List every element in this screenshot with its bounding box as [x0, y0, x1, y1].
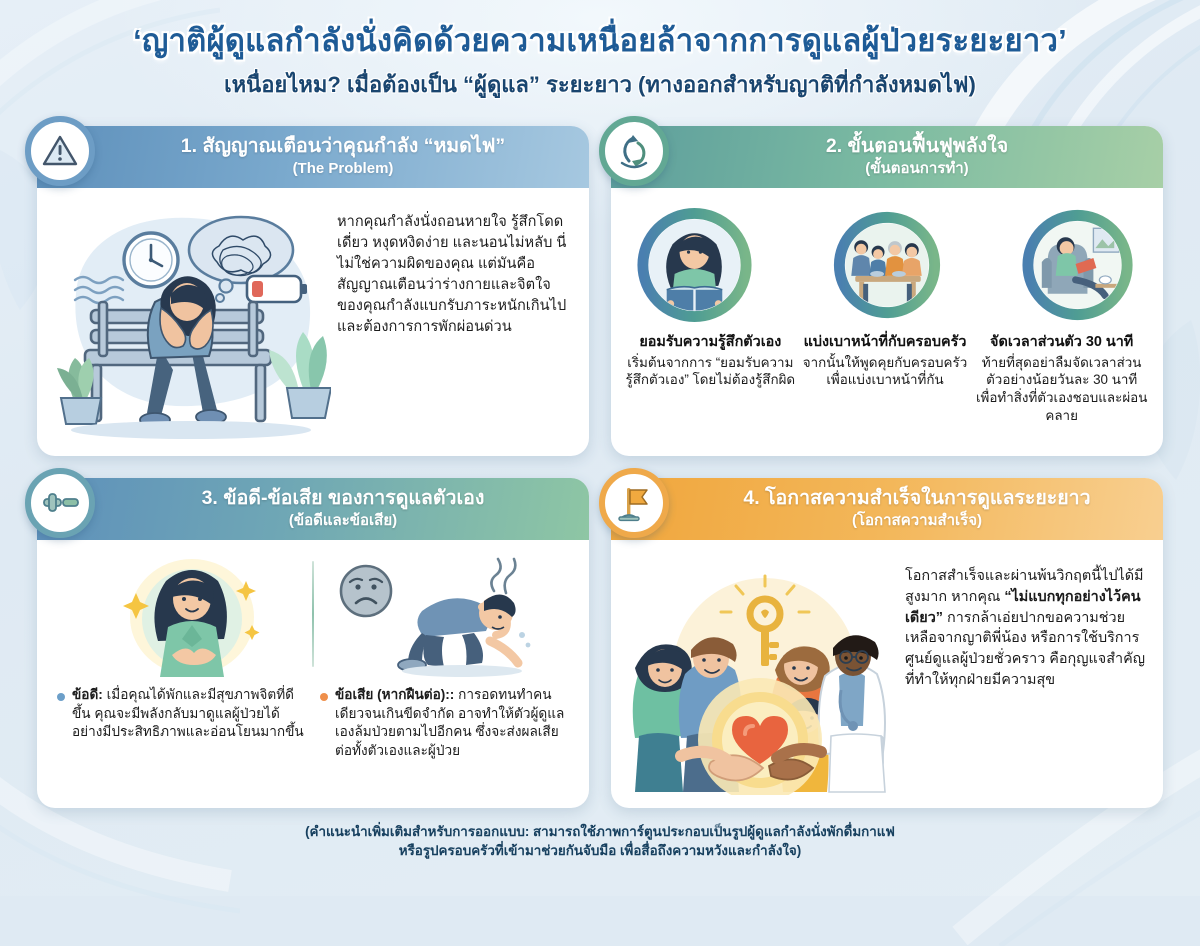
card-header-problem: 1. สัญญาณเตือนว่าคุณกำลัง “หมดไฟ” (The P… — [37, 126, 589, 188]
card-body-pros-cons: ข้อดี: เมื่อคุณได้พักและมีสุขภาพจิตที่ดี… — [37, 540, 589, 808]
card-title: 1. สัญญาณเตือนว่าคุณกำลัง “หมดไฟ” — [181, 135, 505, 158]
step-title: จัดเวลาส่วนตัว 30 นาที — [974, 334, 1149, 352]
card-header-success: 4. โอกาสความสำเร็จในการดูแลระยะยาว (โอกา… — [611, 478, 1163, 540]
card-steps: 2. ขั้นตอนฟื้นฟูพลังใจ (ขั้นตอนการทำ) — [611, 126, 1163, 456]
card-body-success: โอกาสสำเร็จและผ่านพ้นวิกฤตนี้ไปได้มีสูงม… — [611, 540, 1163, 870]
stressed-caregiver-on-bench-illustration — [51, 198, 331, 448]
pros-body: เมื่อคุณได้พักและมีสุขภาพจิตที่ดีขึ้น คุ… — [72, 687, 304, 740]
page-subtitle: เหนื่อยไหม? เมื่อต้องเป็น “ผู้ดูแล” ระยะ… — [0, 67, 1200, 102]
card-header-pros-cons: 3. ข้อดี-ข้อเสีย ของการดูแลตัวเอง (ข้อดี… — [37, 478, 589, 540]
card-subtitle: (The Problem) — [181, 160, 505, 179]
family-and-doctor-holding-heart-illustration — [625, 550, 897, 800]
card-title: 3. ข้อดี-ข้อเสีย ของการดูแลตัวเอง — [202, 487, 485, 510]
step-description: เริ่มต้นจากการ “ยอมรับความรู้สึกตัวเอง” … — [625, 354, 796, 389]
card-problem: 1. สัญญาณเตือนว่าคุณกำลัง “หมดไฟ” (The P… — [37, 126, 589, 456]
infographic-page: ‘ญาติผู้ดูแลกำลังนั่งคิดด้วยความเหนื่อยล… — [0, 0, 1200, 896]
bullet-cons-icon — [320, 693, 328, 701]
pros-cons-text-row: ข้อดี: เมื่อคุณได้พักและมีสุขภาพจิตที่ดี… — [51, 678, 575, 761]
card-success: 4. โอกาสความสำเร็จในการดูแลระยะยาว (โอกา… — [611, 478, 1163, 808]
cons-text: ข้อเสีย (หากฝืนต่อ):: การอดทนทำคนเดียวจน… — [335, 686, 571, 761]
card-body-steps: ยอมรับความรู้สึกตัวเอง เริ่มต้นจากการ “ย… — [611, 188, 1163, 456]
glowing-calm-woman-illustration — [74, 551, 304, 677]
steps-connected-circles — [629, 200, 1145, 330]
step-item: จัดเวลาส่วนตัว 30 นาที ท้ายที่สุดอย่าลืม… — [974, 334, 1149, 425]
step-title: แบ่งเบาหน้าที่กับครอบครัว — [800, 334, 971, 352]
card-title: 2. ขั้นตอนฟื้นฟูพลังใจ — [826, 135, 1008, 158]
card-subtitle: (โอกาสความสำเร็จ) — [743, 512, 1090, 531]
page-header: ‘ญาติผู้ดูแลกำลังนั่งคิดด้วยความเหนื่อยล… — [0, 0, 1200, 102]
footer-line-1: (คำแนะนำเพิ่มเติมสำหรับการออกแบบ: สามารถ… — [0, 822, 1200, 841]
card-body-problem: หากคุณกำลังนั่งถอนหายใจ รู้สึกโดดเดี่ยว … — [37, 188, 589, 518]
problem-body-text: หากคุณกำลังนั่งถอนหายใจ รู้สึกโดดเดี่ยว … — [337, 198, 575, 338]
plus-minus-icon — [25, 468, 95, 538]
step-description: ท้ายที่สุดอย่าลืมจัดเวลาส่วนตัวอย่างน้อย… — [974, 354, 1149, 425]
page-title: ‘ญาติผู้ดูแลกำลังนั่งคิดด้วยความเหนื่อยล… — [0, 22, 1200, 61]
bullet-pros-icon — [57, 693, 65, 701]
success-body-text: โอกาสสำเร็จและผ่านพ้นวิกฤตนี้ไปได้มีสูงม… — [905, 550, 1149, 691]
steps-illustrations-row — [625, 198, 1149, 330]
sections-grid: 1. สัญญาณเตือนว่าคุณกำลัง “หมดไฟ” (The P… — [37, 126, 1163, 808]
recovery-arrows-icon — [599, 116, 669, 186]
step-title: ยอมรับความรู้สึกตัวเอง — [625, 334, 796, 352]
pros-text: ข้อดี: เมื่อคุณได้พักและมีสุขภาพจิตที่ดี… — [72, 686, 308, 761]
card-header-steps: 2. ขั้นตอนฟื้นฟูพลังใจ (ขั้นตอนการทำ) — [611, 126, 1163, 188]
cons-item: ข้อเสีย (หากฝืนต่อ):: การอดทนทำคนเดียวจน… — [320, 686, 571, 761]
pros-item: ข้อดี: เมื่อคุณได้พักและมีสุขภาพจิตที่ดี… — [57, 686, 308, 761]
card-subtitle: (ข้อดีและข้อเสีย) — [202, 512, 485, 531]
pros-cons-divider — [312, 561, 314, 667]
step-item: แบ่งเบาหน้าที่กับครอบครัว จากนั้นให้พูดค… — [800, 334, 971, 425]
card-title: 4. โอกาสความสำเร็จในการดูแลระยะยาว — [743, 487, 1090, 510]
step-description: จากนั้นให้พูดคุยกับครอบครัวเพื่อแบ่งเบาห… — [800, 354, 971, 389]
warning-triangle-icon — [25, 116, 95, 186]
cons-label: ข้อเสีย (หากฝืนต่อ):: — [335, 687, 454, 702]
pros-cons-illustrations — [51, 550, 575, 678]
flag-icon — [599, 468, 669, 538]
exhausted-person-illustration — [322, 551, 552, 677]
pros-label: ข้อดี: — [72, 687, 103, 702]
steps-labels-row: ยอมรับความรู้สึกตัวเอง เริ่มต้นจากการ “ย… — [625, 330, 1149, 425]
footer-note: (คำแนะนำเพิ่มเติมสำหรับการออกแบบ: สามารถ… — [0, 822, 1200, 861]
card-pros-cons: 3. ข้อดี-ข้อเสีย ของการดูแลตัวเอง (ข้อดี… — [37, 478, 589, 808]
step-item: ยอมรับความรู้สึกตัวเอง เริ่มต้นจากการ “ย… — [625, 334, 796, 425]
footer-line-2: หรือรูปครอบครัวที่เข้ามาช่วยกันจับมือ เพ… — [0, 841, 1200, 860]
card-subtitle: (ขั้นตอนการทำ) — [826, 160, 1008, 179]
